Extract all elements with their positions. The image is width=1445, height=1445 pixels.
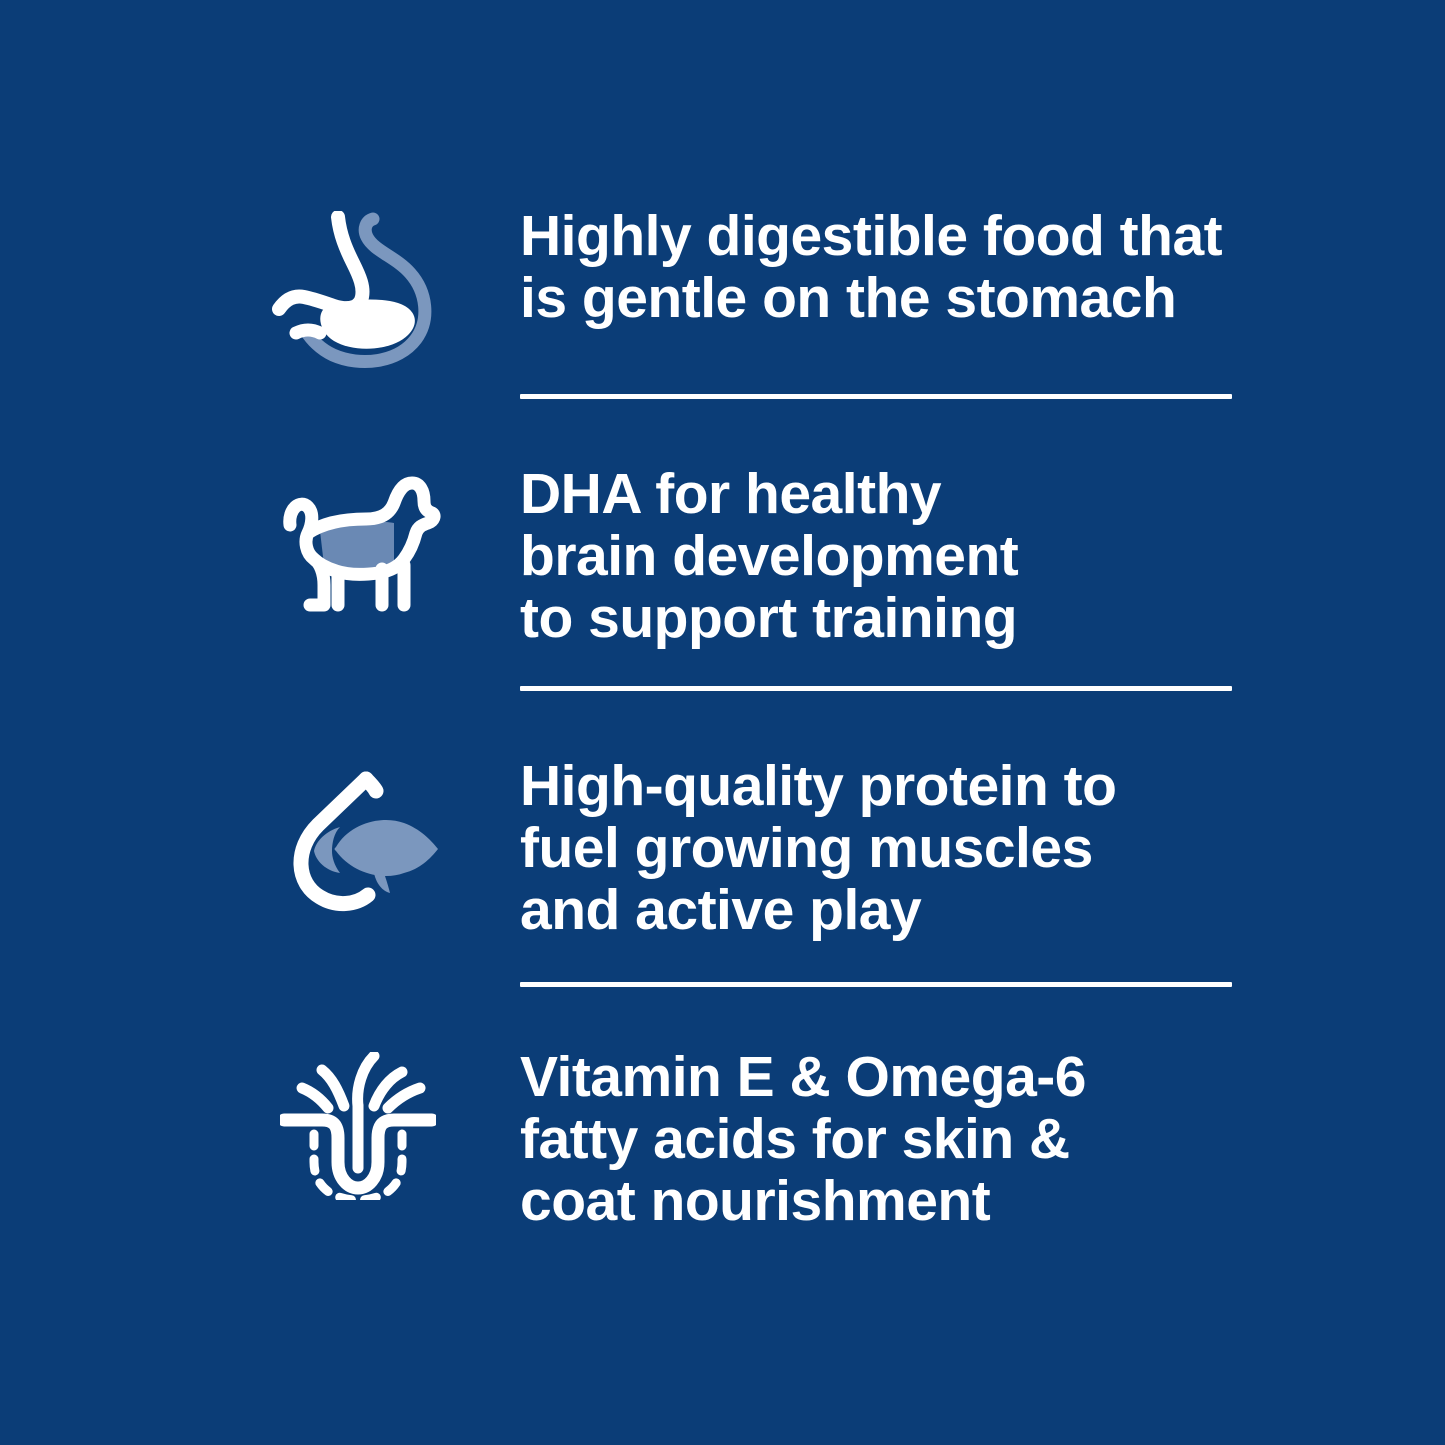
benefits-panel: Highly digestible food that is gentle on… (0, 0, 1445, 1445)
benefit-icon-cell (196, 463, 520, 619)
benefit-text: High-quality protein to fuel growing mus… (520, 755, 1256, 941)
benefit-text-cell: Vitamin E & Omega-6 fatty acids for skin… (520, 1046, 1256, 1232)
benefit-row: DHA for healthy brain development to sup… (196, 463, 1256, 649)
divider (520, 686, 1232, 691)
divider (520, 982, 1232, 987)
benefit-text-cell: Highly digestible food that is gentle on… (520, 205, 1256, 329)
benefit-icon-cell (196, 1046, 520, 1200)
benefit-text-cell: High-quality protein to fuel growing mus… (520, 755, 1256, 941)
divider (520, 394, 1232, 399)
benefit-text: DHA for healthy brain development to sup… (520, 463, 1256, 649)
benefit-row: Vitamin E & Omega-6 fatty acids for skin… (196, 1046, 1256, 1232)
stomach-icon (270, 211, 446, 369)
benefit-row: Highly digestible food that is gentle on… (196, 205, 1256, 369)
benefit-row: High-quality protein to fuel growing mus… (196, 755, 1256, 941)
hair-follicle-icon (280, 1052, 436, 1200)
benefit-text-cell: DHA for healthy brain development to sup… (520, 463, 1256, 649)
fish-droplet-icon (270, 761, 446, 913)
dog-icon (274, 469, 442, 619)
benefit-text: Vitamin E & Omega-6 fatty acids for skin… (520, 1046, 1256, 1232)
benefit-text: Highly digestible food that is gentle on… (520, 205, 1256, 329)
benefit-icon-cell (196, 755, 520, 913)
benefit-icon-cell (196, 205, 520, 369)
benefit-list: Highly digestible food that is gentle on… (0, 0, 1445, 1445)
